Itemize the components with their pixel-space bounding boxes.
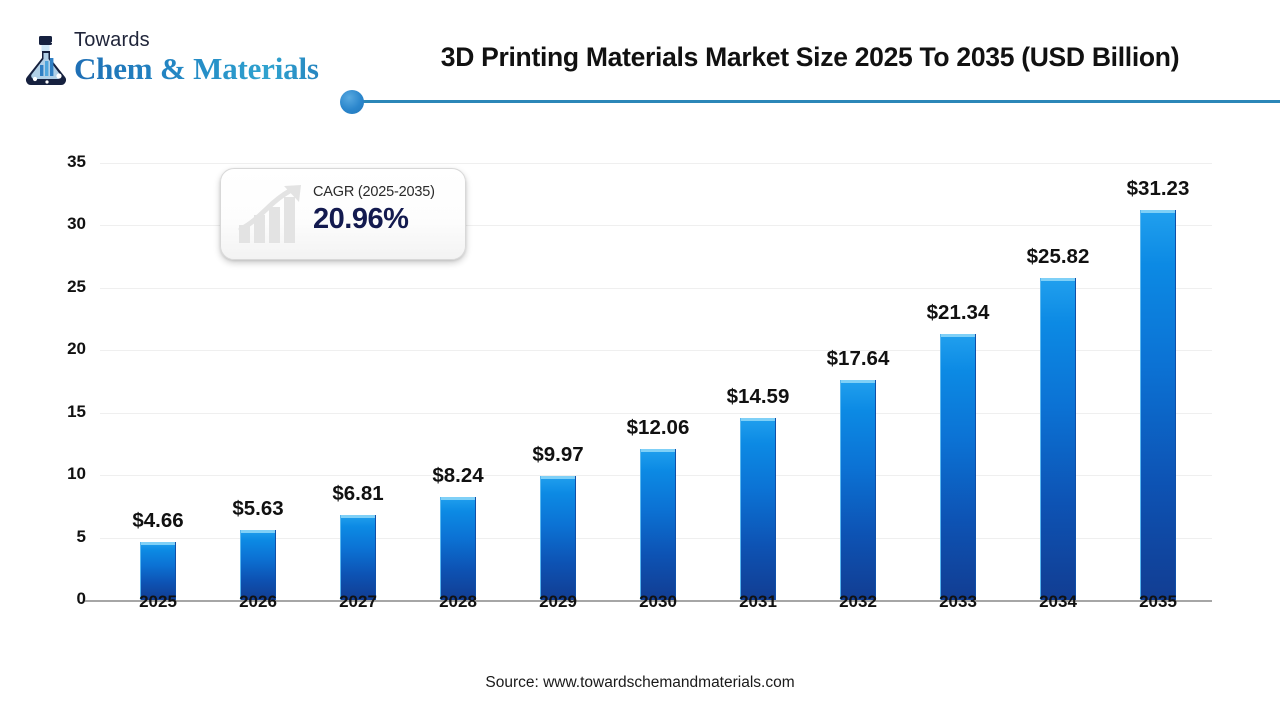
bar-highlight-cap (141, 542, 175, 545)
bar-highlight-cap (1141, 210, 1175, 213)
bar-highlight-cap (541, 476, 575, 479)
bar[interactable] (740, 418, 776, 600)
x-axis-category-label: 2032 (808, 592, 908, 612)
bar-highlight-cap (841, 380, 875, 383)
x-axis-category-label: 2030 (608, 592, 708, 612)
bar-value-label: $14.59 (694, 385, 822, 409)
bar-highlight-cap (1041, 278, 1075, 281)
bar-group: $5.632026 (208, 80, 308, 600)
bar[interactable] (440, 497, 476, 600)
chart-plot-area: 05101520253035 $4.662025$5.632026$6.8120… (0, 0, 1280, 720)
x-axis-category-label: 2025 (108, 592, 208, 612)
y-axis-tick: 15 (40, 402, 86, 422)
cagr-badge: CAGR (2025-2035) 20.96% (220, 168, 466, 260)
y-axis-tick: 10 (40, 464, 86, 484)
bar-highlight-cap (241, 530, 275, 533)
bar-group: $4.662025 (108, 80, 208, 600)
bar-group: $21.342033 (908, 80, 1008, 600)
x-axis-category-label: 2031 (708, 592, 808, 612)
bar-group: $6.812027 (308, 80, 408, 600)
growth-bar-chart-arrow-icon (235, 183, 309, 245)
bar-group: $31.232035 (1108, 80, 1208, 600)
y-axis-tick: 30 (40, 214, 86, 234)
bar-highlight-cap (941, 334, 975, 337)
bar-highlight-cap (441, 497, 475, 500)
bar-group: $17.642032 (808, 80, 908, 600)
y-axis-tick: 25 (40, 277, 86, 297)
bar[interactable] (940, 334, 976, 600)
bar-group: $9.972029 (508, 80, 608, 600)
cagr-text-block: CAGR (2025-2035) 20.96% (313, 183, 457, 237)
bar-value-label: $17.64 (794, 347, 922, 371)
bar-highlight-cap (341, 515, 375, 518)
bar-highlight-cap (741, 418, 775, 421)
x-axis-category-label: 2033 (908, 592, 1008, 612)
x-axis-category-label: 2029 (508, 592, 608, 612)
bar-value-label: $12.06 (594, 416, 722, 440)
y-axis-tick: 0 (40, 589, 86, 609)
bar-group: $14.592031 (708, 80, 808, 600)
source-caption: Source: www.towardschemandmaterials.com (0, 674, 1280, 692)
bar[interactable] (1040, 278, 1076, 600)
cagr-value: 20.96% (313, 201, 457, 237)
bar[interactable] (640, 449, 676, 600)
x-axis-category-label: 2035 (1108, 592, 1208, 612)
bar-value-label: $21.34 (894, 301, 1022, 325)
x-axis-category-label: 2028 (408, 592, 508, 612)
y-axis-tick: 20 (40, 339, 86, 359)
x-axis-category-label: 2027 (308, 592, 408, 612)
bar-value-label: $8.24 (394, 464, 522, 488)
bar[interactable] (340, 515, 376, 600)
bar[interactable] (840, 380, 876, 600)
bar-value-label: $9.97 (494, 443, 622, 467)
bar-group: $12.062030 (608, 80, 708, 600)
bar-value-label: $25.82 (994, 245, 1122, 269)
y-axis-tick: 5 (40, 527, 86, 547)
bar[interactable] (1140, 210, 1176, 600)
bar-group: $8.242028 (408, 80, 508, 600)
bar-highlight-cap (641, 449, 675, 452)
x-axis-category-label: 2034 (1008, 592, 1108, 612)
cagr-period-label: CAGR (2025-2035) (313, 183, 457, 201)
bar-value-label: $31.23 (1094, 177, 1222, 201)
x-axis-category-label: 2026 (208, 592, 308, 612)
bar[interactable] (240, 530, 276, 600)
bar-group: $25.822034 (1008, 80, 1108, 600)
bar[interactable] (540, 476, 576, 600)
y-axis-tick: 35 (40, 152, 86, 172)
